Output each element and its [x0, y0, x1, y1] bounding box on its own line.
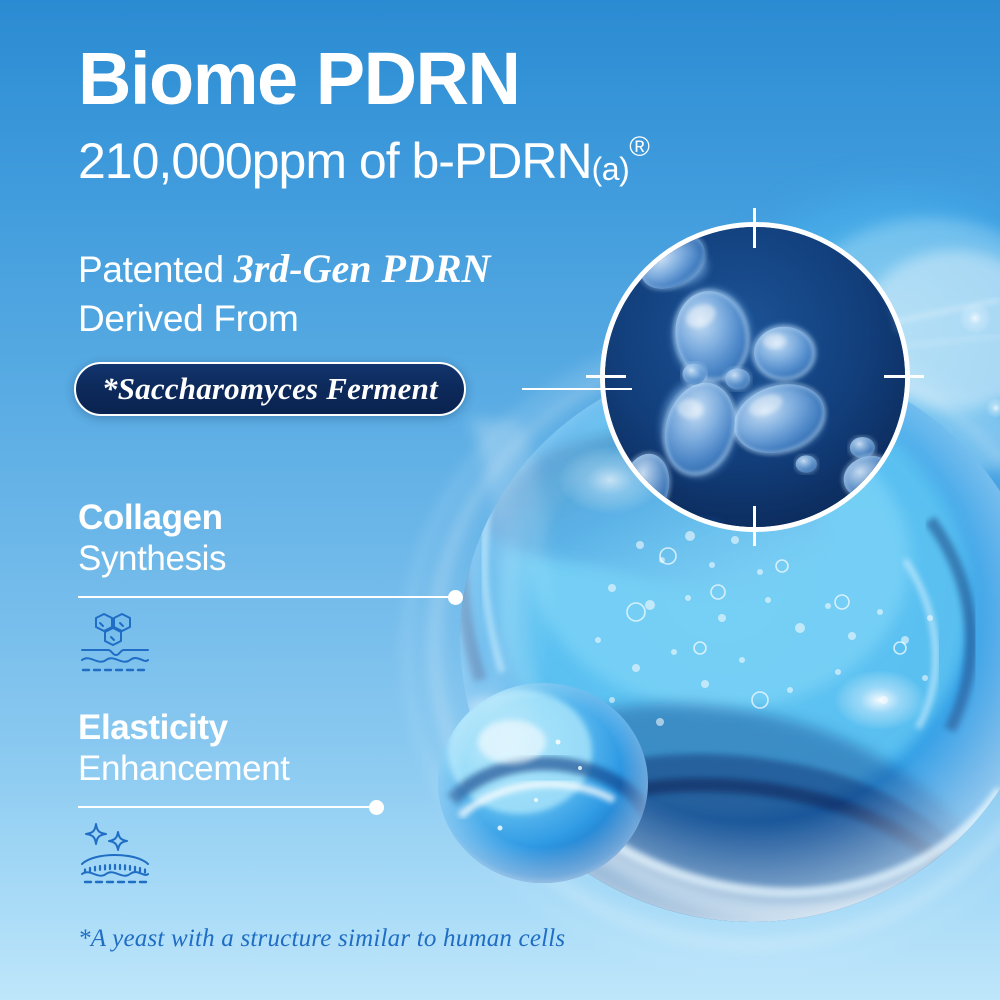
- page-title: Biome PDRN: [78, 42, 519, 116]
- collagen-hexagon-skin-layers-icon: [76, 612, 154, 679]
- patent-text: Patented 3rd-Gen PDRN Derived From: [78, 243, 490, 343]
- benefit-collagen-rule: [78, 596, 453, 598]
- magnifier-circle: [600, 222, 910, 532]
- subtitle-main: 210,000ppm of b-PDRN: [78, 133, 592, 189]
- product-infographic: Biome PDRN 210,000ppm of b-PDRN(a)® Pate…: [0, 0, 1000, 1000]
- benefit-elasticity-rule: [78, 806, 374, 808]
- crosshair-tick-left: [586, 375, 626, 378]
- benefit-collagen-rule-dot: [448, 590, 463, 605]
- footnote: *A yeast with a structure similar to hum…: [78, 925, 565, 953]
- badge-to-magnifier-connector: [522, 388, 632, 390]
- patent-line-2: Derived From: [78, 295, 490, 343]
- benefit-collagen-subtitle: Synthesis: [78, 539, 226, 580]
- ingredient-badge: *Saccharomyces Ferment: [74, 362, 466, 416]
- patent-prefix: Patented: [78, 249, 234, 290]
- benefit-elasticity: Elasticity Enhancement: [78, 708, 290, 789]
- crosshair-tick-bottom: [753, 506, 756, 546]
- patent-emphasis: 3rd-Gen PDRN: [234, 246, 491, 291]
- subtitle: 210,000ppm of b-PDRN(a)®: [78, 133, 649, 186]
- benefit-elasticity-subtitle: Enhancement: [78, 749, 290, 790]
- elasticity-sparkle-skin-layers-icon: [76, 822, 154, 889]
- yeast-cells-magnified-view: [600, 222, 910, 532]
- benefit-elasticity-rule-dot: [369, 800, 384, 815]
- benefit-elasticity-title: Elasticity: [78, 708, 290, 749]
- ingredient-badge-label: *Saccharomyces Ferment: [102, 371, 438, 407]
- registered-trademark-icon: ®: [629, 131, 649, 162]
- patent-line-1: Patented 3rd-Gen PDRN: [78, 243, 490, 295]
- crosshair-tick-top: [753, 208, 756, 248]
- subtitle-sub: (a): [592, 151, 630, 187]
- crosshair-tick-right: [884, 375, 924, 378]
- benefit-collagen-title: Collagen: [78, 498, 226, 539]
- benefit-collagen: Collagen Synthesis: [78, 498, 226, 579]
